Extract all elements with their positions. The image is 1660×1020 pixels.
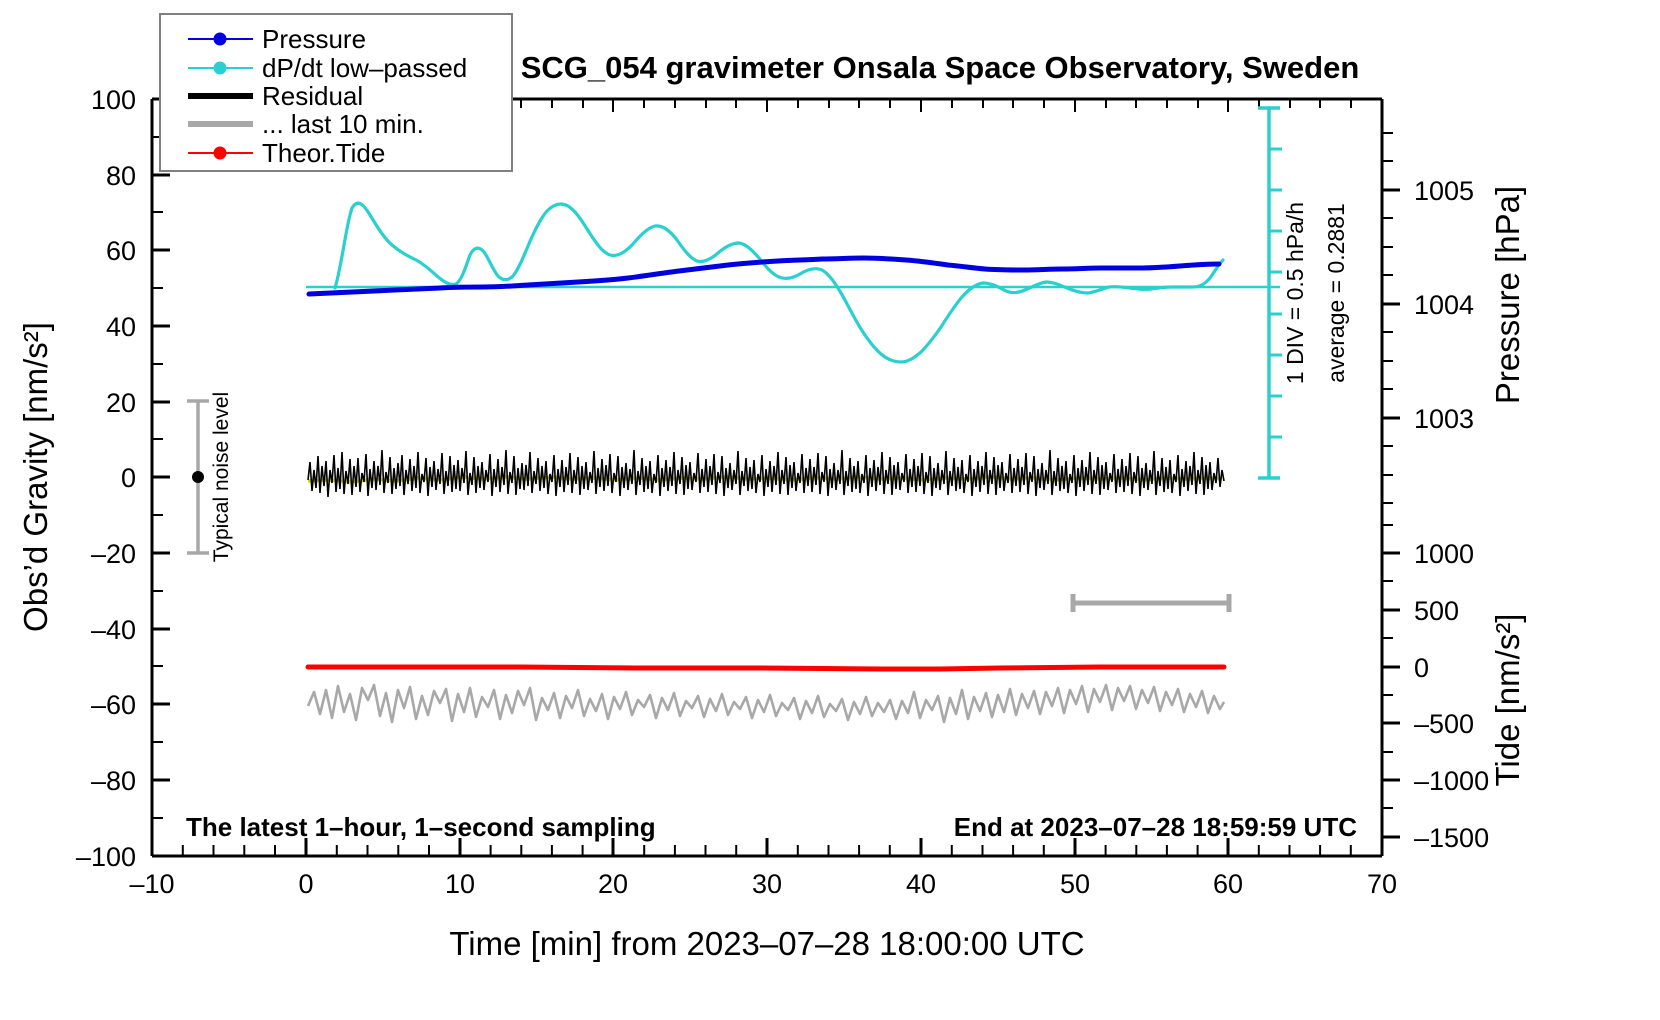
legend[interactable]: Pressure dP/dt low–passed Residual ... l… (160, 14, 512, 171)
footer-note-right: End at 2023–07–28 18:59:59 UTC (954, 812, 1357, 842)
typical-noise-level-label: Typical noise level (210, 392, 233, 562)
y-tick-label: 0 (121, 463, 136, 493)
x-tick-label: 20 (598, 869, 628, 899)
y-tick-label: –20 (91, 539, 136, 569)
y-tick-label: –100 (76, 842, 136, 872)
y-tick-label: –80 (91, 766, 136, 796)
x-tick-label: –10 (129, 869, 174, 899)
x-tick-label: 0 (298, 869, 313, 899)
y-tick-label: –60 (91, 690, 136, 720)
x-tick-label: 70 (1367, 869, 1397, 899)
chart-title: SCG_054 gravimeter Onsala Space Observat… (521, 50, 1360, 85)
pressure-tick-label: 1003 (1414, 404, 1474, 434)
pressure-tick-label: 1005 (1414, 176, 1474, 206)
gravimeter-chart: –10 0 10 20 30 40 50 60 70 –100 –80 –60 … (0, 0, 1660, 1020)
legend-label: ... last 10 min. (262, 109, 424, 139)
pressure-tick-label: 1004 (1414, 290, 1474, 320)
tide-tick-label: –1000 (1414, 766, 1489, 796)
tide-tick-label: 500 (1414, 596, 1459, 626)
y-tick-label: 40 (106, 312, 136, 342)
plot-canvas: –10 0 10 20 30 40 50 60 70 –100 –80 –60 … (0, 0, 1660, 1020)
x-axis-title: Time [min] from 2023–07–28 18:00:00 UTC (449, 925, 1084, 962)
y-tick-label: 60 (106, 236, 136, 266)
tide-tick-label: 0 (1414, 653, 1429, 683)
footer-note-left: The latest 1–hour, 1–second sampling (186, 812, 656, 842)
tide-tick-label: –1500 (1414, 823, 1489, 853)
average-label: average = 0.2881 (1323, 203, 1349, 383)
div-scale-label: 1 DIV = 0.5 hPa/h (1282, 202, 1308, 384)
series-theor-tide (308, 667, 1224, 669)
legend-label: dP/dt low–passed (262, 53, 467, 83)
y-tick-label: 100 (91, 85, 136, 115)
y-tick-label: 80 (106, 161, 136, 191)
legend-label: Residual (262, 81, 363, 111)
right-axis-title-pressure: Pressure [hPa] (1489, 186, 1526, 404)
x-tick-label: 50 (1060, 869, 1090, 899)
right-axis-title-tide: Tide [nm/s²] (1489, 614, 1526, 787)
x-tick-label: 30 (752, 869, 782, 899)
y-tick-label: 20 (106, 388, 136, 418)
y-axis-title: Obs’d Gravity [nm/s²] (17, 322, 54, 632)
x-tick-label: 40 (906, 869, 936, 899)
tide-tick-label: –500 (1414, 709, 1474, 739)
legend-label: Theor.Tide (262, 138, 385, 168)
x-tick-label: 10 (445, 869, 475, 899)
y-tick-label: –40 (91, 615, 136, 645)
pressure-tick-label: 1000 (1414, 539, 1474, 569)
x-tick-label: 60 (1213, 869, 1243, 899)
legend-label: Pressure (262, 24, 366, 54)
